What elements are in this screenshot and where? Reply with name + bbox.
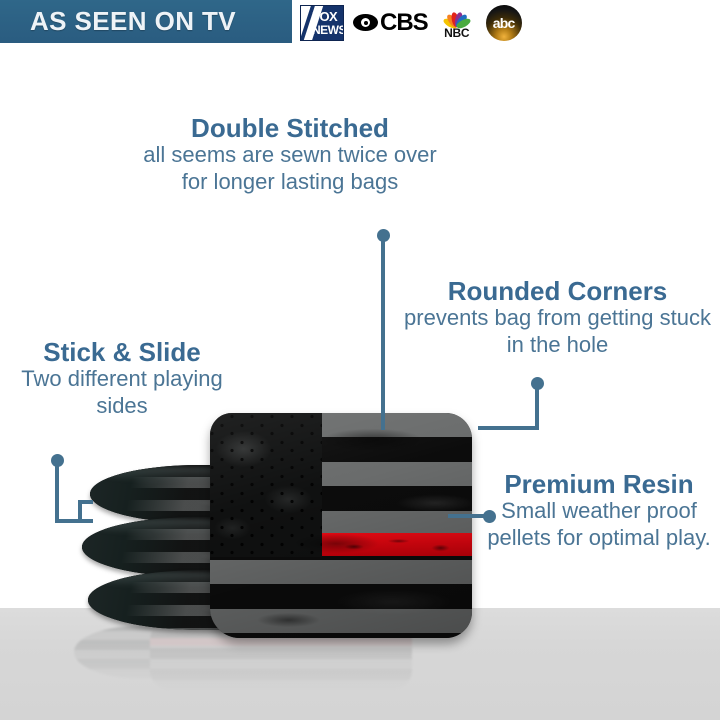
nbc-peacock-icon (444, 5, 471, 27)
bag-shading (210, 413, 472, 638)
callout-rounded-corners: Rounded Corners prevents bag from gettin… (400, 277, 715, 359)
infographic-canvas: AS SEEN ON TV FOX NEWS CBS NBC abc (0, 0, 720, 720)
callout-body-premium-resin: Small weather proof pellets for optimal … (480, 498, 718, 552)
banner-title: AS SEEN ON TV (30, 6, 236, 37)
cbs-logo-label: CBS (380, 11, 428, 35)
callout-title-rounded-corners: Rounded Corners (400, 277, 715, 305)
leader-dot-stick-slide (51, 454, 64, 467)
leader-dot-double-stitched (377, 229, 390, 242)
network-logo-row: FOX NEWS CBS NBC abc (300, 2, 522, 43)
leader-line-premium-resin (448, 514, 488, 518)
flag-cornhole-bag (210, 413, 472, 638)
cbs-logo: CBS (353, 11, 428, 35)
leader-line-stick-slide-vertical (55, 465, 59, 523)
callout-stick-and-slide: Stick & Slide Two different playing side… (2, 338, 242, 420)
callout-premium-resin: Premium Resin Small weather proof pellet… (480, 470, 718, 552)
as-seen-on-tv-banner: AS SEEN ON TV (0, 0, 292, 43)
leader-line-rounded-corners-vertical (535, 388, 539, 430)
cbs-eye-icon (353, 14, 378, 31)
callout-double-stitched: Double Stitched all seems are sewn twice… (140, 114, 440, 196)
callout-body-double-stitched: all seems are sewn twice over for longer… (140, 142, 440, 196)
fox-news-logo: FOX NEWS (300, 5, 344, 41)
leader-line-rounded-corners-horizontal (478, 426, 539, 430)
leader-dot-premium-resin (483, 510, 496, 523)
callout-body-stick-and-slide: Two different playing sides (2, 366, 242, 420)
abc-logo-label: abc (486, 15, 522, 31)
leader-bracket-stick-slide-bottom (78, 519, 93, 523)
leader-dot-rounded-corners (531, 377, 544, 390)
nbc-logo: NBC (437, 4, 477, 42)
callout-title-double-stitched: Double Stitched (140, 114, 440, 142)
callout-body-rounded-corners: prevents bag from getting stuck in the h… (400, 305, 715, 359)
callout-title-stick-and-slide: Stick & Slide (2, 338, 242, 366)
callout-title-premium-resin: Premium Resin (480, 470, 718, 498)
leader-line-double-stitched (381, 240, 385, 430)
abc-logo: abc (486, 5, 522, 41)
fox-logo-line1: FOX (312, 9, 337, 24)
product-image (60, 405, 530, 670)
nbc-logo-label: NBC (437, 26, 477, 40)
fox-logo-line2: NEWS (312, 23, 344, 37)
leader-bracket-stick-slide-top (78, 500, 93, 504)
